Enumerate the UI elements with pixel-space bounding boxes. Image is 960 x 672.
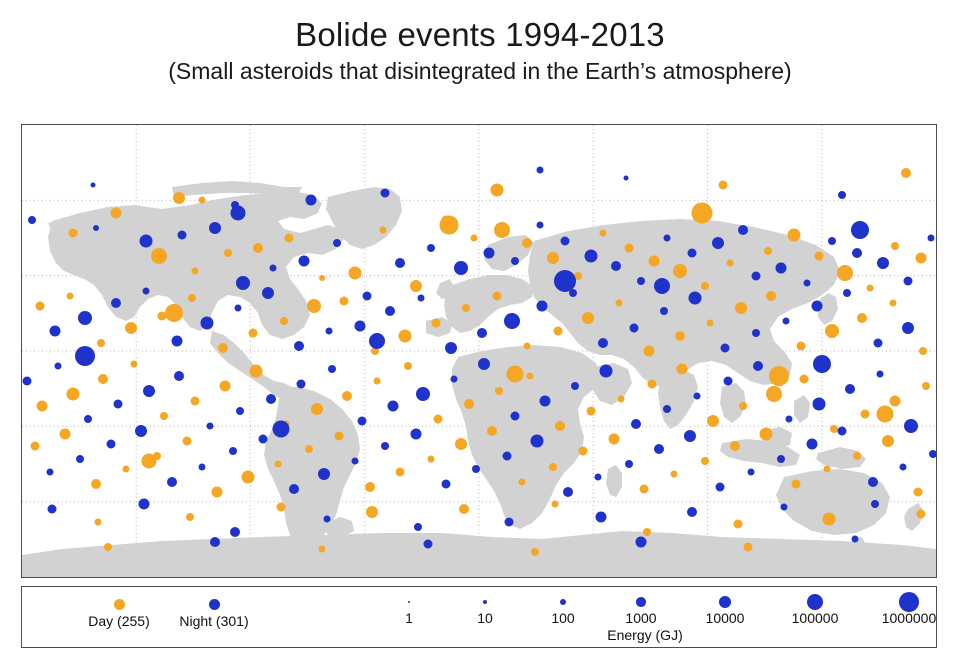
bolide-event-dot-night <box>427 244 435 252</box>
bolide-event-dot-night <box>598 338 608 348</box>
bolide-event-dot-night <box>143 287 150 294</box>
bolide-event-dot-night <box>297 379 306 388</box>
bolide-event-dot-day <box>91 479 101 489</box>
size-legend-dot-wrap <box>690 593 760 611</box>
bolide-event-dot-day <box>224 249 232 257</box>
bolide-event-dot-night <box>929 450 937 458</box>
bolide-event-dot-night <box>171 335 182 346</box>
bolide-event-dot-day <box>160 412 168 420</box>
bolide-event-dot-day <box>186 513 194 521</box>
size-legend: 1101001000100001000001000000 Energy (GJ) <box>352 587 938 647</box>
bolide-event-dot-night <box>230 205 245 220</box>
size-legend-dot-wrap <box>528 593 598 611</box>
bolide-event-dot-night <box>595 511 606 522</box>
bolide-event-dot-night <box>234 305 241 312</box>
size-legend-entry-1000000: 1000000 <box>874 593 944 625</box>
bolide-event-dots <box>22 125 936 577</box>
bolide-event-dot-night <box>143 385 155 397</box>
bolide-event-dot-day <box>123 466 130 473</box>
bolide-event-dot-night <box>167 477 177 487</box>
bolide-event-dot-day <box>104 543 112 551</box>
bolide-event-dot-day <box>853 452 861 460</box>
bolide-event-dot-day <box>439 216 458 235</box>
bolide-event-dot-day <box>494 222 510 238</box>
bolide-event-dot-day <box>701 282 709 290</box>
bolide-event-dot-day <box>342 391 352 401</box>
bolide-event-dot-night <box>688 249 697 258</box>
bolide-event-dot-night <box>561 236 570 245</box>
bolide-event-dot-day <box>522 238 532 248</box>
bolide-event-dot-day <box>487 426 497 436</box>
bolide-event-dot-night <box>28 216 36 224</box>
bolide-event-dot-night <box>536 222 543 229</box>
bolide-event-dot-day <box>735 302 747 314</box>
bolide-event-dot-day <box>319 275 325 281</box>
size-legend-label: 10000 <box>690 611 760 625</box>
bolide-event-dot-night <box>783 317 790 324</box>
bolide-event-dot-night <box>663 405 671 413</box>
bolide-event-dot-day <box>249 365 262 378</box>
bolide-event-dot-night <box>663 235 670 242</box>
bolide-event-dot-day <box>792 480 801 489</box>
bolide-event-dot-day <box>787 229 800 242</box>
bolide-event-dot-day <box>459 504 469 514</box>
bolide-event-dot-night <box>138 499 149 510</box>
bolide-event-dot-day <box>707 415 719 427</box>
bolide-event-dot-night <box>753 361 763 371</box>
bolide-event-dot-day <box>188 294 196 302</box>
bolide-event-dot-day <box>190 397 199 406</box>
bolide-event-dot-night <box>899 463 906 470</box>
bolide-event-dot-day <box>241 470 254 483</box>
bolide-event-dot-day <box>141 454 156 469</box>
bolide-event-dot-day <box>922 382 930 390</box>
bolide-event-dot-day <box>318 546 325 553</box>
bolide-event-dot-day <box>579 447 588 456</box>
bolide-event-dot-night <box>424 540 433 549</box>
bolide-event-dot-night <box>210 537 220 547</box>
bolide-event-dot-day <box>618 395 625 402</box>
bolide-event-dot-day <box>882 435 894 447</box>
size-legend-entry-100: 100 <box>528 593 598 625</box>
bolide-event-dot-day <box>701 457 709 465</box>
bolide-event-dot-night <box>75 346 95 366</box>
bolide-event-dot-night <box>445 342 457 354</box>
bolide-event-dot-night <box>454 261 468 275</box>
bolide-event-dot-day <box>582 312 594 324</box>
bolide-event-dot-day <box>464 399 474 409</box>
bolide-event-dot-night <box>811 300 822 311</box>
bolide-event-dot-night <box>84 415 92 423</box>
bolide-event-dot-day <box>718 181 727 190</box>
bolide-event-dot-day <box>766 291 776 301</box>
bolide-event-dot-day <box>490 184 503 197</box>
bolide-event-dot-night <box>877 370 884 377</box>
bolide-event-dot-night <box>78 311 92 325</box>
bolide-event-dot-day <box>335 432 344 441</box>
bolide-event-dot-night <box>584 249 597 262</box>
bolide-event-dot-day <box>275 461 282 468</box>
bolide-event-dot-day <box>624 244 633 253</box>
bolide-event-dot-day <box>555 421 565 431</box>
bolide-event-dot-day <box>151 248 167 264</box>
bolide-event-dot-day <box>744 542 753 551</box>
bolide-event-dot-day <box>671 471 678 478</box>
bolide-event-dot-day <box>199 197 206 204</box>
bolide-event-dot-night <box>871 500 879 508</box>
bolide-event-dot-night <box>828 237 836 245</box>
size-legend-dot-icon <box>483 600 487 604</box>
bolide-event-dot-night <box>91 183 96 188</box>
bolide-event-dot-day <box>284 234 293 243</box>
bolide-event-dot-day <box>68 228 77 237</box>
bolide-event-dot-night <box>571 382 579 390</box>
bolide-event-dot-night <box>654 278 670 294</box>
bolide-event-dot-night <box>851 221 869 239</box>
bolide-event-dot-day <box>677 363 688 374</box>
bolide-event-dot-day <box>643 528 651 536</box>
bolide-event-dot-night <box>229 447 237 455</box>
bolide-event-dot-night <box>387 401 398 412</box>
size-legend-dot-wrap <box>606 593 676 611</box>
bolide-event-dot-night <box>369 333 385 349</box>
bolide-event-dot-night <box>414 523 422 531</box>
bolide-event-dot-night <box>851 536 858 543</box>
bolide-event-dot-day <box>608 433 619 444</box>
bolide-event-dot-day <box>866 285 873 292</box>
bolide-event-dot-night <box>636 536 647 547</box>
bolide-event-dot-night <box>199 463 206 470</box>
size-legend-dot-wrap <box>780 593 850 611</box>
bolide-event-dot-day <box>640 485 649 494</box>
bolide-event-dot-day <box>901 168 911 178</box>
bolide-event-dot-night <box>505 517 514 526</box>
bolide-event-dot-day <box>764 247 772 255</box>
bolide-event-dot-day <box>404 362 412 370</box>
bolide-event-dot-night <box>537 300 548 311</box>
bolide-event-dot-night <box>416 387 430 401</box>
bolide-event-dot-night <box>385 306 395 316</box>
bolide-event-dot-night <box>721 344 730 353</box>
bolide-event-dot-night <box>236 276 250 290</box>
size-legend-entry-1000: 1000 <box>606 593 676 625</box>
bolide-event-dot-day <box>348 267 361 280</box>
bolide-event-dot-night <box>318 468 330 480</box>
bolide-event-dot-day <box>733 520 742 529</box>
bolide-event-dot-night <box>838 427 847 436</box>
bolide-event-dot-day <box>183 437 192 446</box>
bolide-event-dot-day <box>110 207 121 218</box>
bolide-event-dot-day <box>524 342 531 349</box>
bolide-event-dot-night <box>843 289 851 297</box>
bolide-event-dot-day <box>191 267 198 274</box>
bolide-event-dot-day <box>220 381 231 392</box>
bolide-event-dot-day <box>825 324 839 338</box>
bolide-event-dot-night <box>687 507 697 517</box>
bolide-event-dot-day <box>365 482 375 492</box>
bolide-event-dot-day <box>915 253 926 264</box>
bolide-event-dot-night <box>554 270 576 292</box>
bolide-event-dot-night <box>76 455 84 463</box>
bolide-event-dot-day <box>280 317 288 325</box>
map-panel <box>21 124 937 578</box>
bolide-event-dot-day <box>707 320 714 327</box>
bolide-event-dot-night <box>838 191 846 199</box>
bolide-event-dot-day <box>877 405 894 422</box>
bolide-event-dot-night <box>777 455 785 463</box>
bolide-event-dot-night <box>637 277 645 285</box>
bolide-event-dot-night <box>135 425 147 437</box>
bolide-event-dot-day <box>66 387 79 400</box>
bolide-event-dot-day <box>586 407 595 416</box>
size-legend-dot-icon <box>636 597 646 607</box>
bolide-event-dot-night <box>236 407 244 415</box>
size-legend-entry-10000: 10000 <box>690 593 760 625</box>
bolide-event-dot-night <box>502 452 511 461</box>
bolide-event-dot-day <box>434 414 443 423</box>
bolide-event-dot-night <box>262 287 274 299</box>
bolide-event-dot-day <box>766 386 782 402</box>
bolide-event-dot-night <box>599 365 612 378</box>
bolide-event-dot-night <box>323 516 330 523</box>
bolide-event-dot-night <box>712 237 724 249</box>
bolide-event-dot-night <box>351 458 358 465</box>
bolide-event-dot-day <box>739 402 747 410</box>
bolide-event-dot-night <box>298 255 309 266</box>
bolide-event-dot-day <box>399 329 412 342</box>
bolide-event-dot-night <box>48 505 57 514</box>
bolide-event-dot-day <box>455 438 467 450</box>
bolide-event-dot-night <box>177 231 186 240</box>
bolide-event-dot-day <box>340 296 349 305</box>
bolide-event-dot-night <box>902 322 914 334</box>
bolide-event-dot-day <box>860 409 869 418</box>
bolide-event-dot-night <box>333 239 341 247</box>
bolide-event-dot-night <box>417 295 424 302</box>
bolide-event-dot-day <box>431 319 440 328</box>
size-legend-label: 1 <box>374 611 444 625</box>
page-subtitle: (Small asteroids that disintegrated in t… <box>0 59 960 84</box>
bolide-event-dot-day <box>410 280 422 292</box>
bolide-event-dot-day <box>823 513 836 526</box>
size-legend-label: 1000000 <box>874 611 944 625</box>
legend-label-day: Day (255) <box>69 613 169 629</box>
bolide-event-dot-day <box>311 403 323 415</box>
bolide-event-dot-day <box>815 251 824 260</box>
bolide-event-dot-night <box>472 465 480 473</box>
bolide-event-dot-night <box>354 320 365 331</box>
bolide-event-dot-day <box>549 463 557 471</box>
bolide-event-dot-night <box>111 298 121 308</box>
size-legend-dot-wrap <box>874 593 944 611</box>
bolide-event-dot-day <box>374 378 381 385</box>
bolide-event-dot-day <box>769 366 789 386</box>
bolide-event-dot-night <box>694 393 701 400</box>
bolide-event-dot-night <box>904 419 918 433</box>
bolide-event-dot-day <box>95 518 102 525</box>
bolide-event-dot-night <box>266 394 276 404</box>
bolide-event-dot-day <box>60 428 71 439</box>
bolide-event-dot-night <box>563 487 573 497</box>
bolide-event-dot-day <box>218 343 228 353</box>
bolide-event-dot-day <box>305 445 313 453</box>
bolide-event-dot-day <box>165 304 183 322</box>
bolide-event-dot-day <box>857 313 867 323</box>
legend-category-night[interactable]: Night (301) <box>164 599 264 629</box>
bolide-event-dot-day <box>506 365 523 382</box>
bolide-event-dot-day <box>914 487 923 496</box>
bolide-event-dot-night <box>631 419 641 429</box>
bolide-event-dot-night <box>877 257 889 269</box>
size-legend-dot-icon <box>560 599 567 606</box>
bolide-event-dot-night <box>540 396 551 407</box>
size-legend-dot-wrap <box>450 593 520 611</box>
size-legend-label: 100 <box>528 611 598 625</box>
bolide-event-dot-day <box>249 329 258 338</box>
bolide-event-dot-night <box>806 438 817 449</box>
bolide-event-dot-day <box>837 265 853 281</box>
bolide-event-dot-night <box>201 317 214 330</box>
bolide-event-dot-night <box>751 271 760 280</box>
bolide-event-dot-night <box>23 377 32 386</box>
bolide-event-dot-day <box>891 242 899 250</box>
bolide-event-dot-day <box>553 326 562 335</box>
legend-swatch-night-icon <box>209 599 220 610</box>
bolide-event-dot-day <box>379 227 386 234</box>
bolide-event-dot-day <box>759 427 772 440</box>
page-title: Bolide events 1994-2013 <box>0 18 960 53</box>
bolide-event-dot-night <box>873 339 882 348</box>
bolide-event-dot-night <box>272 420 289 437</box>
bolide-event-dot-day <box>173 192 185 204</box>
bolide-event-dot-night <box>477 328 487 338</box>
bolide-event-dot-day <box>97 339 105 347</box>
bolide-event-dot-night <box>174 371 184 381</box>
size-legend-dot-icon <box>807 594 823 610</box>
bolide-event-dot-night <box>660 307 668 315</box>
bolide-event-dot-night <box>624 175 629 180</box>
bolide-event-dot-night <box>328 365 336 373</box>
bolide-event-dot-day <box>212 486 223 497</box>
bolide-event-dot-day <box>644 346 655 357</box>
bolide-event-dot-day <box>797 341 806 350</box>
bolide-event-dot-night <box>381 188 390 197</box>
bolide-event-dot-day <box>692 202 713 223</box>
bolide-event-dot-day <box>427 455 434 462</box>
bolide-event-dot-night <box>868 477 878 487</box>
bolide-event-dot-night <box>326 327 333 334</box>
bolide-event-dot-day <box>253 243 263 253</box>
bolide-event-dot-night <box>845 384 855 394</box>
bolide-event-dot-day <box>552 501 559 508</box>
bolide-event-dot-night <box>688 292 701 305</box>
bolide-event-dot-night <box>785 415 792 422</box>
bolide-event-dot-night <box>684 430 696 442</box>
bolide-event-dot-night <box>780 503 787 510</box>
bolide-event-dot-night <box>738 225 748 235</box>
bolide-event-dot-day <box>889 300 896 307</box>
legend-panel: Day (255)Night (301) 1101001000100001000… <box>21 586 937 648</box>
bolide-event-dot-night <box>306 195 317 206</box>
legend-swatch-day-icon <box>114 599 125 610</box>
bolide-event-dot-night <box>450 375 457 382</box>
legend-category-day[interactable]: Day (255) <box>69 599 169 629</box>
bolide-event-dot-night <box>358 417 367 426</box>
size-legend-dot-wrap <box>374 593 444 611</box>
bolide-event-dot-night <box>50 325 61 336</box>
bolide-event-dot-night <box>852 248 862 258</box>
bolide-event-dot-night <box>140 234 153 247</box>
bolide-event-dot-night <box>511 257 519 265</box>
bolide-event-dot-day <box>130 360 137 367</box>
bolide-event-dot-day <box>547 252 559 264</box>
bolide-event-dot-night <box>106 439 115 448</box>
bolide-event-dot-night <box>289 484 299 494</box>
size-legend-label: 10 <box>450 611 520 625</box>
bolide-event-dot-night <box>531 435 544 448</box>
bolide-event-dot-day <box>396 467 405 476</box>
bolide-event-dot-night <box>54 363 61 370</box>
energy-axis-label: Energy (GJ) <box>352 627 938 643</box>
bolide-event-dot-night <box>752 329 760 337</box>
bolide-event-dot-day <box>673 264 687 278</box>
bolide-event-dot-night <box>484 248 495 259</box>
bolide-event-dot-day <box>675 331 685 341</box>
bolide-event-dot-night <box>441 480 450 489</box>
bolide-event-dot-night <box>209 222 221 234</box>
bolide-event-dot-night <box>410 428 421 439</box>
bolide-event-dot-day <box>98 374 108 384</box>
bolide-event-dot-day <box>799 374 808 383</box>
bolide-event-dot-day <box>647 379 656 388</box>
bolide-event-dot-day <box>67 292 74 299</box>
bolide-event-dot-day <box>37 401 48 412</box>
bolide-event-dot-night <box>395 258 405 268</box>
bolide-event-dot-day <box>366 506 378 518</box>
bolide-event-dot-day <box>916 510 925 519</box>
size-legend-entry-100000: 100000 <box>780 593 850 625</box>
bolide-event-dot-night <box>270 265 277 272</box>
bolide-event-dot-day <box>890 396 901 407</box>
bolide-event-dot-night <box>93 225 99 231</box>
bolide-event-dot-day <box>730 441 740 451</box>
legend-label-night: Night (301) <box>164 613 264 629</box>
bolide-event-dot-night <box>904 276 913 285</box>
bolide-event-dot-day <box>492 291 501 300</box>
bolide-event-dot-night <box>363 291 372 300</box>
title-block: Bolide events 1994-2013 (Small asteroids… <box>0 0 960 84</box>
bolide-event-dot-night <box>776 263 787 274</box>
size-legend-dot-icon <box>408 601 410 603</box>
bolide-event-dot-night <box>478 358 490 370</box>
bolide-event-dot-night <box>813 355 831 373</box>
bolide-event-dot-day <box>125 322 137 334</box>
bolide-event-dot-night <box>259 434 268 443</box>
bolide-event-dot-day <box>526 373 533 380</box>
size-legend-dot-icon <box>719 596 732 609</box>
size-legend-entry-1: 1 <box>374 593 444 625</box>
bolide-event-dot-day <box>600 229 607 236</box>
size-legend-label: 100000 <box>780 611 850 625</box>
bolide-event-dot-night <box>716 482 725 491</box>
size-legend-label: 1000 <box>606 611 676 625</box>
size-legend-dot-icon <box>899 592 919 612</box>
bolide-event-dot-night <box>747 468 754 475</box>
bolide-event-dot-day <box>495 387 503 395</box>
bolide-event-dot-night <box>813 397 826 410</box>
bolide-event-dot-night <box>654 444 664 454</box>
bolide-event-dot-night <box>611 261 621 271</box>
